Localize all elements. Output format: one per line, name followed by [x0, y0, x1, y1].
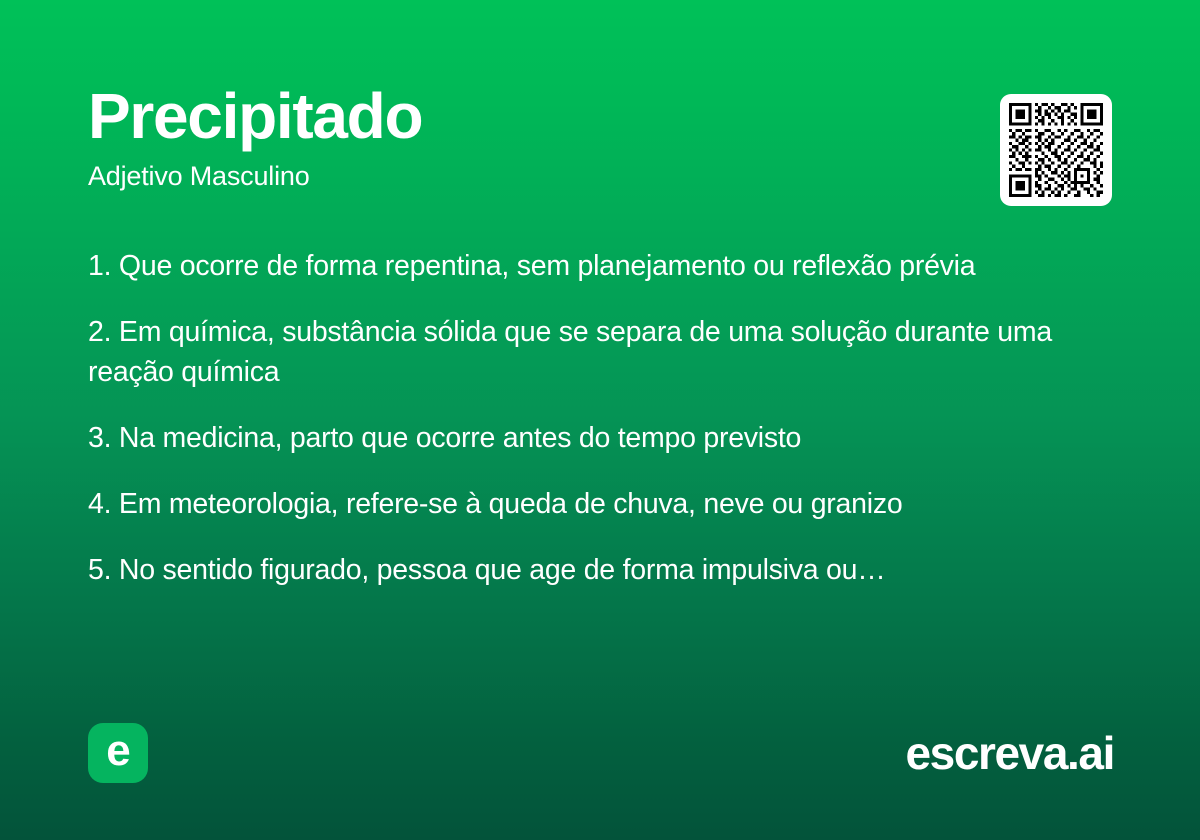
- card-footer: e escreva.ai: [88, 722, 1114, 784]
- page-title: Precipitado: [88, 84, 1112, 148]
- brand-wordmark: escreva.ai: [905, 730, 1114, 776]
- card-header: Precipitado Adjetivo Masculino: [88, 84, 1112, 192]
- brand-logo-letter: e: [106, 729, 129, 773]
- dictionary-card: Precipitado Adjetivo Masculino: [0, 0, 1200, 840]
- definition-item: 3. Na medicina, parto que ocorre antes d…: [88, 418, 1100, 458]
- definition-item: 5. No sentido figurado, pessoa que age d…: [88, 550, 1100, 590]
- definitions-list: 1. Que ocorre de forma repentina, sem pl…: [88, 246, 1100, 590]
- qr-code-icon: [1009, 103, 1103, 197]
- definition-item: 1. Que ocorre de forma repentina, sem pl…: [88, 246, 1100, 286]
- definition-item: 2. Em química, substância sólida que se …: [88, 312, 1100, 392]
- brand-logo-badge: e: [88, 723, 148, 783]
- word-class-label: Adjetivo Masculino: [88, 162, 1112, 192]
- definition-item: 4. Em meteorologia, refere-se à queda de…: [88, 484, 1100, 524]
- qr-code-container[interactable]: [1000, 94, 1112, 206]
